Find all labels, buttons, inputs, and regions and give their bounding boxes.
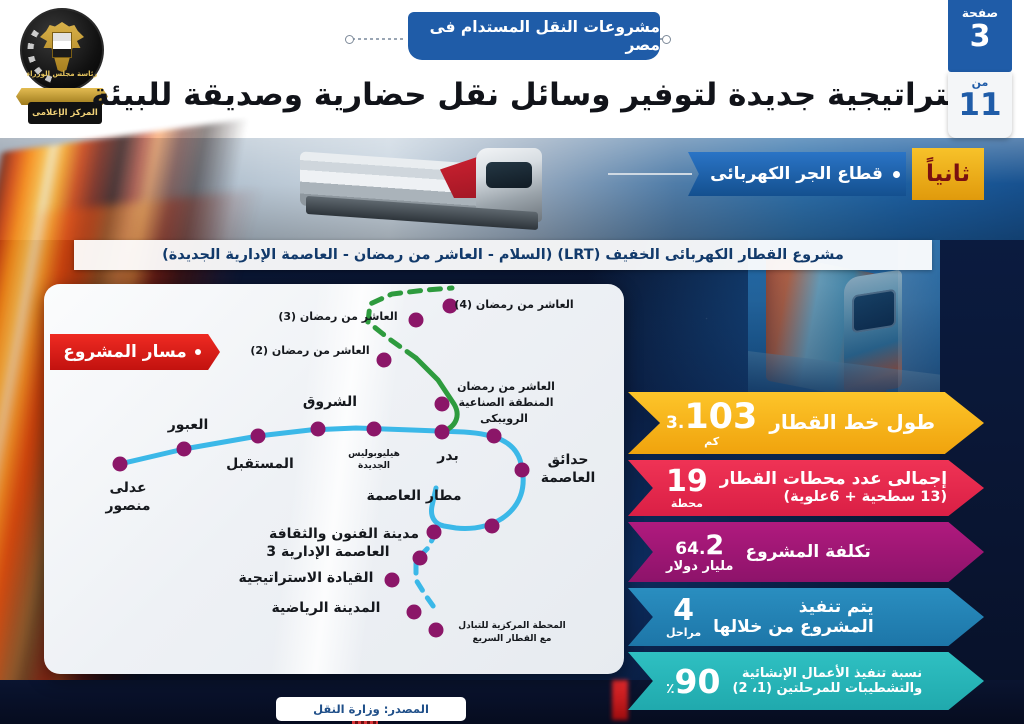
station-dot-badr [435, 425, 450, 440]
station-label-hadaek-1: حدائق [548, 452, 589, 468]
stat-decimal: .3 [666, 413, 684, 433]
sector-name-chip: قطاع الجر الكهربائى [688, 152, 906, 196]
stat-sublabel: والتشطيبات للمرحلتين (1، 2) [732, 681, 922, 696]
page-title: استراتيجية جديدة لتوفير وسائل نقل حضارية… [120, 66, 960, 124]
station-dot-sports-city [407, 605, 422, 620]
page-number: 3 [948, 20, 1012, 54]
station-label-heliopolis-2: الجديدة [358, 461, 390, 471]
station-label-tenth-ind-1: العاشر من رمضان [457, 380, 555, 393]
station-label-mostakbal: المستقبل [226, 456, 294, 472]
stat-stations-count: إجمالى عدد محطات القطار (13 سطحية + 6علو… [628, 460, 984, 516]
stat-label: يتم تنفيذ [713, 597, 873, 617]
stat-label: تكلفة المشروع [745, 542, 870, 562]
station-dot-obour [177, 442, 192, 457]
total-pages: 11 [948, 89, 1012, 122]
bullet-icon [195, 349, 201, 355]
station-label-tenth-3: العاشر من رمضان (3) [278, 310, 397, 323]
station-dot-adly-mansour [113, 457, 128, 472]
page-number-badge: صفحة 3 من 11 [948, 0, 1012, 138]
station-dot-central-hub [429, 623, 444, 638]
stat-label: إجمالى عدد محطات القطار [720, 469, 947, 489]
station-label-central-hub-1: المحطة المركزية للتبادل [458, 621, 565, 631]
stat-value: 90 [675, 665, 721, 698]
stat-decimal: .64 [675, 539, 705, 559]
sector-order-badge: ثانياً [912, 148, 984, 200]
stat-percent-sign: ٪ [666, 681, 675, 697]
header-train-photo [300, 142, 610, 238]
source-chip: المصدر: وزارة النقل [276, 697, 466, 721]
station-dot-shorouk [311, 422, 326, 437]
station-dot-tenth-3 [409, 313, 424, 328]
station-label-robeiky: الرويبكى [480, 412, 528, 425]
stat-project-cost: تكلفة المشروع 2.64 مليار دولار [628, 522, 984, 582]
station-label-airport: مطار العاصمة [366, 488, 461, 504]
main-line-dashed [416, 532, 436, 610]
station-label-central-hub-2: مع القطار السريع [472, 634, 551, 644]
stat-line-length: طول خط القطار 103.3 كم [628, 392, 984, 454]
station-label-adly-mansour-1: عدلى [109, 480, 146, 496]
stat-completion: نسبة تنفيذ الأعمال الإنشائية والتشطيبات … [628, 652, 984, 710]
kicker-connector-left [352, 38, 404, 40]
project-title-bar: مشروع القطار الكهربائى الخفيف (LRT) (الس… [74, 240, 932, 270]
station-label-tenth-ind-2: المنطقة الصناعية [459, 396, 554, 409]
stat-unit: محطة [666, 498, 708, 509]
station-label-shorouk: الشروق [303, 394, 357, 410]
station-label-hadaek-2: العاصمة [541, 470, 596, 486]
station-label-arts-culture: مدينة الفنون والثقافة [269, 526, 419, 542]
station-dot-tenth-industrial [435, 397, 450, 412]
route-map-card: عدلى منصور العبور المستقبل الشروق هيليوب… [44, 284, 624, 674]
station-label-heliopolis-1: هيليوبوليس [348, 449, 400, 459]
station-dot-mostakbal [251, 429, 266, 444]
station-label-tenth-2: العاشر من رمضان (2) [250, 344, 369, 357]
kicker-banner: مشروعات النقل المستدام فى مصر [408, 12, 660, 60]
station-dot-hadaek [515, 463, 530, 478]
station-dot-strategic [385, 573, 400, 588]
stat-value-group: 19 محطة [666, 467, 708, 509]
stat-unit: كم [666, 436, 757, 447]
stat-sublabel: (13 سطحية + 6علوية) [720, 489, 947, 506]
stat-value-group: 103.3 كم [666, 400, 757, 447]
stat-value-group: 90٪ [666, 665, 720, 698]
sector-name: قطاع الجر الكهربائى [710, 164, 883, 184]
bullet-icon [893, 171, 900, 178]
stat-sublabel: المشروع من خلالها [713, 617, 873, 637]
route-badge-label: مسار المشروع [63, 342, 187, 362]
branch-line-solid [416, 358, 457, 432]
statistics-panel: طول خط القطار 103.3 كم إجمالى عدد محطات … [628, 392, 984, 716]
stat-phases: يتم تنفيذ المشروع من خلالها 4 مراحل [628, 588, 984, 646]
stat-label: نسبة تنفيذ الأعمال الإنشائية [732, 666, 922, 681]
stat-value-group: 4 مراحل [666, 596, 701, 638]
station-dot-robeiky [487, 429, 502, 444]
stat-unit: مليار دولار [666, 560, 733, 573]
stat-unit: مراحل [666, 627, 701, 638]
station-label-adly-mansour-2: منصور [104, 498, 150, 514]
stat-value: 103 [684, 400, 757, 435]
stat-label: طول خط القطار [769, 411, 935, 435]
station-label-capital-3: العاصمة الإدارية 3 [266, 544, 389, 560]
station-label-strategic: القيادة الاستراتيجية [239, 570, 374, 586]
stat-value-group: 2.64 مليار دولار [666, 532, 733, 573]
stat-value: 4 [673, 596, 694, 626]
station-dot-arts-culture [427, 525, 442, 540]
station-label-tenth-4: العاشر من رمضان (4) [454, 298, 573, 311]
stat-value: 19 [666, 467, 708, 497]
sector-connector-line [608, 173, 692, 175]
stat-value: 2 [705, 532, 724, 559]
page-word: صفحة [948, 6, 1012, 20]
infographic-canvas: رئاسة مجلس الوزراء المركز الإعلامى مشروع… [0, 0, 1024, 724]
tail-light-glow [612, 680, 628, 720]
logo-sub-text: رئاسة مجلس الوزراء [22, 70, 102, 78]
station-label-badr: بدر [436, 448, 458, 464]
station-dot-airport [485, 519, 500, 534]
route-badge: مسار المشروع [50, 334, 220, 370]
station-dot-capital-3 [413, 551, 428, 566]
station-label-obour: العبور [167, 417, 209, 433]
station-dot-heliopolis [367, 422, 382, 437]
station-label-sports-city: المدينة الرياضية [272, 600, 381, 616]
station-dot-tenth-2 [377, 353, 392, 368]
